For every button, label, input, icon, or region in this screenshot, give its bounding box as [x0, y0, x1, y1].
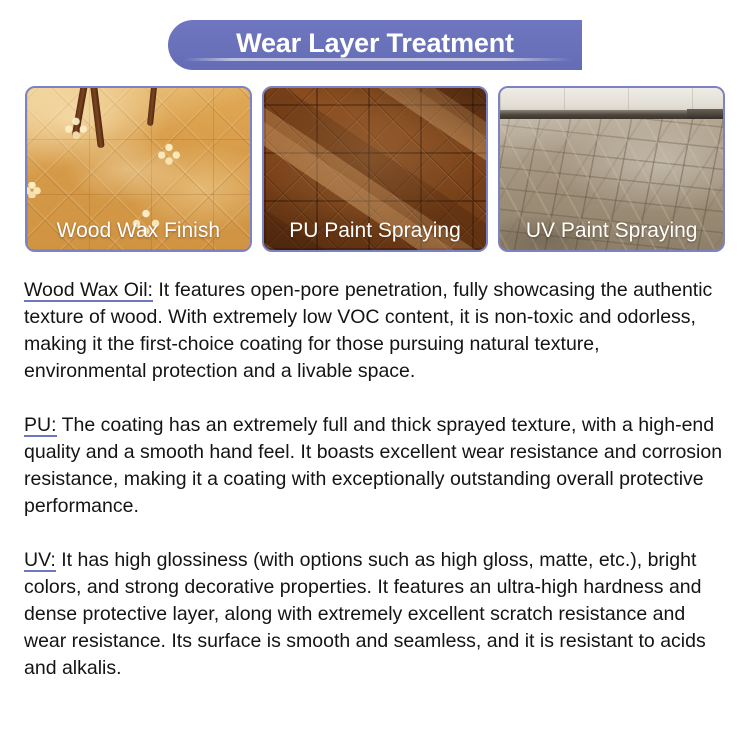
paragraph-text: It has high glossiness (with options suc…: [24, 549, 706, 679]
floral-inlay-motif: [63, 117, 89, 139]
paragraph-text: The coating has an extremely full and th…: [24, 414, 722, 517]
paragraph-lead-label: UV:: [24, 549, 56, 572]
paragraph-pu: PU: The coating has an extremely full an…: [24, 412, 724, 520]
treatment-card-pu-paint: PU Paint Spraying: [262, 86, 489, 252]
paragraph-uv: UV: It has high glossiness (with options…: [24, 547, 724, 682]
paragraph-lead-label: PU:: [24, 414, 57, 437]
floral-inlay-motif: [25, 182, 41, 198]
card-caption: PU Paint Spraying: [264, 218, 487, 244]
paragraph-lead-label: Wood Wax Oil:: [24, 279, 153, 302]
page-title: Wear Layer Treatment: [168, 24, 582, 62]
treatment-card-wood-wax: Wood Wax Finish: [25, 86, 252, 252]
paragraph-wood-wax-oil: Wood Wax Oil: It features open-pore pene…: [24, 277, 724, 385]
floral-inlay-motif: [156, 143, 182, 165]
title-banner-body: Wear Layer Treatment: [168, 20, 582, 70]
treatment-card-row: Wood Wax Finish PU Paint Spraying: [25, 86, 725, 252]
wall-panel-seams: [500, 88, 723, 111]
title-banner: Wear Layer Treatment: [168, 20, 582, 70]
page-root: Wear Layer Treatment Wood Wax Finish: [0, 0, 750, 730]
description-body: Wood Wax Oil: It features open-pore pene…: [24, 277, 724, 682]
treatment-card-uv-paint: UV Paint Spraying: [498, 86, 725, 252]
card-caption: UV Paint Spraying: [500, 218, 723, 244]
banner-highlight-line: [184, 58, 572, 61]
card-caption: Wood Wax Finish: [27, 218, 250, 244]
